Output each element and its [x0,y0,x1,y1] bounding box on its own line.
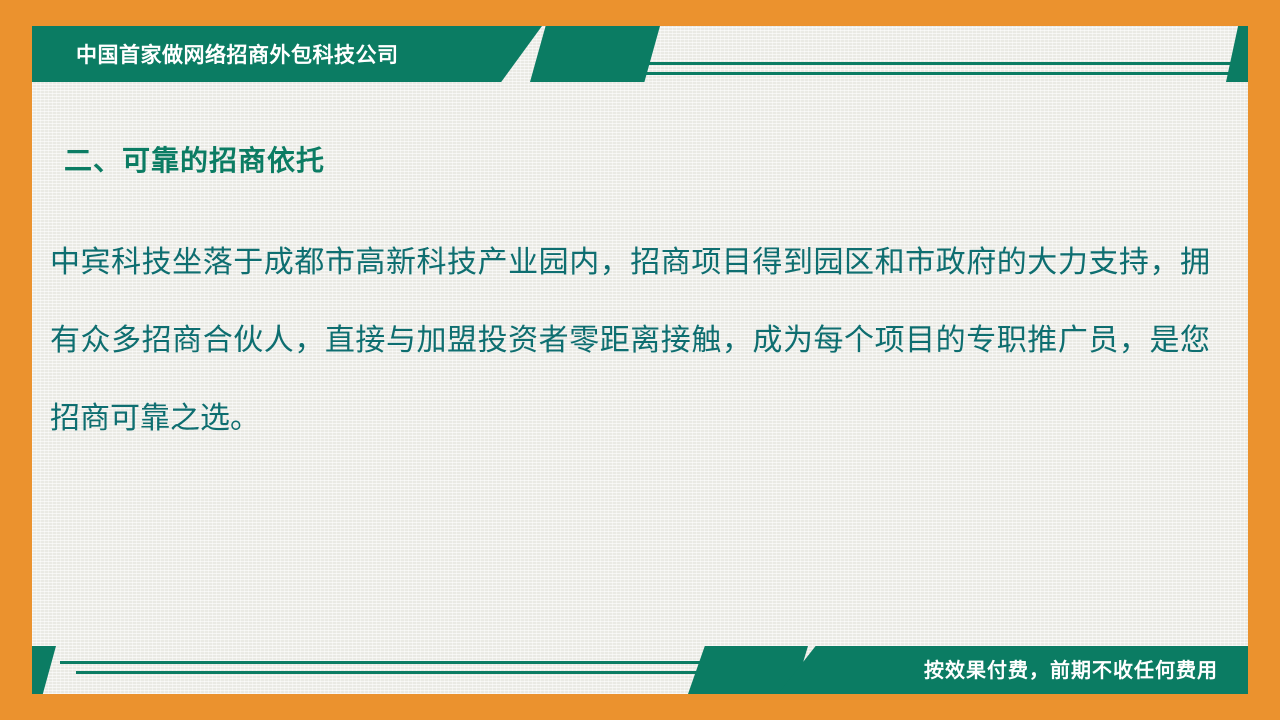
header-title: 中国首家做网络招商外包科技公司 [76,39,399,69]
footer-left-cap [32,646,56,694]
section-heading: 二、可靠的招商依托 [64,139,325,179]
footer-accent-line-2 [76,671,766,674]
slide-content-panel: 中国首家做网络招商外包科技公司 二、可靠的招商依托 中宾科技坐落于成都市高新科技… [32,26,1248,694]
body-paragraph: 中宾科技坐落于成都市高新科技产业园内，招商项目得到园区和市政府的大力支持，拥有众… [50,224,1210,458]
header-accent-line-2 [588,72,1248,75]
footer-accent-line-1 [60,661,760,664]
header-bar: 中国首家做网络招商外包科技公司 [32,26,1248,84]
footer-tagline: 按效果付费，前期不收任何费用 [924,654,1218,683]
slide-canvas: 中国首家做网络招商外包科技公司 二、可靠的招商依托 中宾科技坐落于成都市高新科技… [0,0,1280,720]
header-accent-line-1 [572,62,1248,65]
header-right-cap [1226,26,1248,82]
footer-bar: 按效果付费，前期不收任何费用 [32,636,1248,694]
